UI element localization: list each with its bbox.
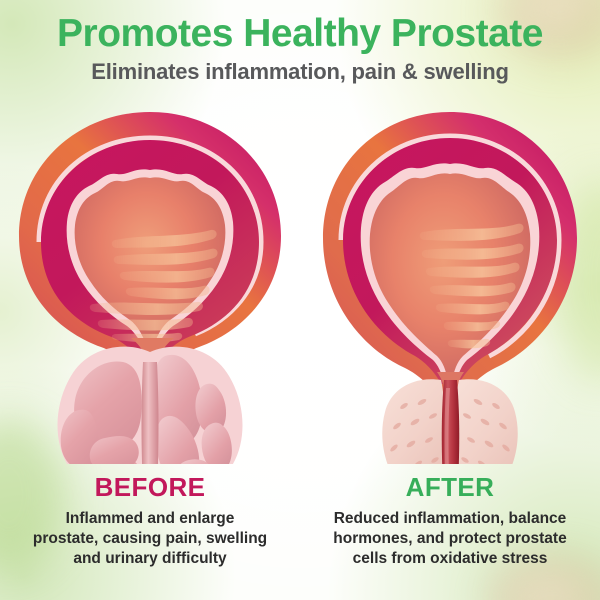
before-line-1: Inflammed and enlarge (6, 509, 294, 529)
after-heading: AFTER (300, 472, 600, 503)
caption-before: BEFORE Inflammed and enlarge prostate, c… (0, 472, 300, 569)
before-line-3: and urinary difficulty (6, 549, 294, 569)
page-title: Promotes Healthy Prostate (0, 0, 600, 55)
prostate-health-infographic: Promotes Healthy Prostate Eliminates inf… (0, 0, 600, 600)
page-subtitle: Eliminates inflammation, pain & swelling (0, 55, 600, 84)
urethra-after (442, 380, 460, 464)
after-line-1: Reduced inflammation, balance (306, 509, 594, 529)
header: Promotes Healthy Prostate Eliminates inf… (0, 0, 600, 84)
enlarged-prostate-illustration (5, 104, 295, 464)
caption-row: BEFORE Inflammed and enlarge prostate, c… (0, 472, 600, 600)
before-description: Inflammed and enlarge prostate, causing … (0, 509, 300, 568)
before-heading: BEFORE (0, 472, 300, 503)
before-line-2: prostate, causing pain, swelling (6, 529, 294, 549)
caption-after: AFTER Reduced inflammation, balance horm… (300, 472, 600, 569)
figure-row (0, 104, 600, 464)
figure-before (0, 104, 300, 464)
after-description: Reduced inflammation, balance hormones, … (300, 509, 600, 568)
after-line-3: cells from oxidative stress (306, 549, 594, 569)
figure-after (300, 104, 600, 464)
urethra-before (142, 362, 159, 464)
healthy-prostate-illustration (305, 104, 595, 464)
after-line-2: hormones, and protect prostate (306, 529, 594, 549)
